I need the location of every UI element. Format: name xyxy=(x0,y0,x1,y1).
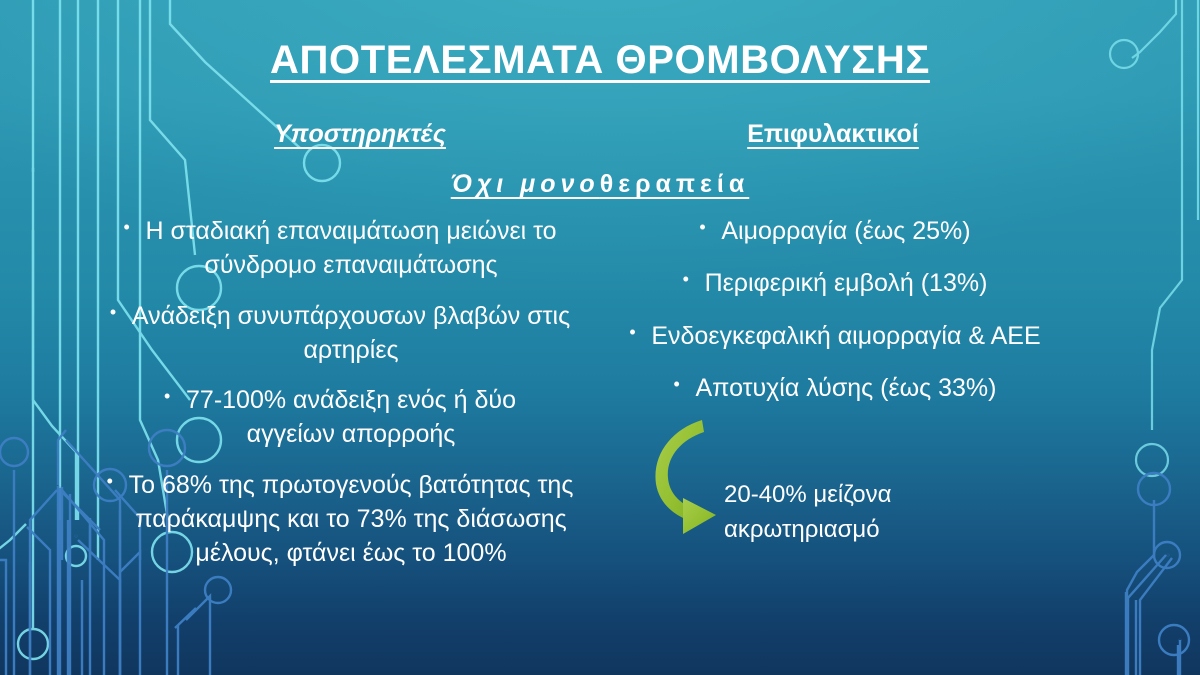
list-item: Η σταδιακή επαναιμάτωση μειώνει το σύνδρ… xyxy=(96,214,606,283)
list-item: Ενδοεγκεφαλική αιμορραγία & ΑΕΕ xyxy=(596,319,1096,353)
subheading-not-only-therapy: Όχι μονοθεραπεία xyxy=(300,170,900,199)
column-heading-cautious: Επιφυλακτικοί xyxy=(653,120,1013,149)
bullet-text: Το 68% της πρωτογενούς βατότητας της παρ… xyxy=(129,471,574,568)
list-item: Αιμορραγία (έως 25%) xyxy=(596,214,1096,248)
subheading-part-a: Όχι μονο xyxy=(451,170,600,198)
cautious-bullet-column: Αιμορραγία (έως 25%) Περιφερική εμβολή (… xyxy=(596,214,1096,423)
bullet-text: Αποτυχία λύσης (έως 33%) xyxy=(696,374,997,402)
slide-title: ΑΠΟΤΕΛΕΣΜΑΤΑ ΘΡΟΜΒΟΛΥΣΗΣ xyxy=(0,38,1200,83)
bullet-text: 77-100% ανάδειξη ενός ή δύο αγγείων απορ… xyxy=(186,386,516,448)
bullet-text: Ενδοεγκεφαλική αιμορραγία & ΑΕΕ xyxy=(651,322,1040,350)
cautious-bullet-list: Αιμορραγία (έως 25%) Περιφερική εμβολή (… xyxy=(596,214,1096,405)
list-item: 77-100% ανάδειξη ενός ή δύο αγγείων απορ… xyxy=(96,383,606,452)
supporters-bullet-column: Η σταδιακή επαναιμάτωση μειώνει το σύνδρ… xyxy=(96,214,606,586)
bullet-text: Αιμορραγία (έως 25%) xyxy=(721,217,970,245)
amputation-callout-text: 20-40% μείζονα ακρωτηριασμό xyxy=(724,478,1024,548)
bullet-text: Η σταδιακή επαναιμάτωση μειώνει το σύνδρ… xyxy=(145,217,556,279)
presentation-slide: ΑΠΟΤΕΛΕΣΜΑΤΑ ΘΡΟΜΒΟΛΥΣΗΣ Υποστηρηκτές Επ… xyxy=(0,0,1200,675)
column-heading-supporters: Υποστηρηκτές xyxy=(180,120,540,149)
bullet-text: Περιφερική εμβολή (13%) xyxy=(705,269,988,297)
list-item: Το 68% της πρωτογενούς βατότητας της παρ… xyxy=(96,468,606,571)
bullet-text: Ανάδειξη συνυπάρχουσων βλαβών στις αρτηρ… xyxy=(132,302,570,364)
list-item: Αποτυχία λύσης (έως 33%) xyxy=(596,371,1096,405)
subheading-part-b: θεραπεία xyxy=(600,170,750,198)
list-item: Περιφερική εμβολή (13%) xyxy=(596,266,1096,300)
list-item: Ανάδειξη συνυπάρχουσων βλαβών στις αρτηρ… xyxy=(96,299,606,368)
supporters-bullet-list: Η σταδιακή επαναιμάτωση μειώνει το σύνδρ… xyxy=(96,214,606,570)
